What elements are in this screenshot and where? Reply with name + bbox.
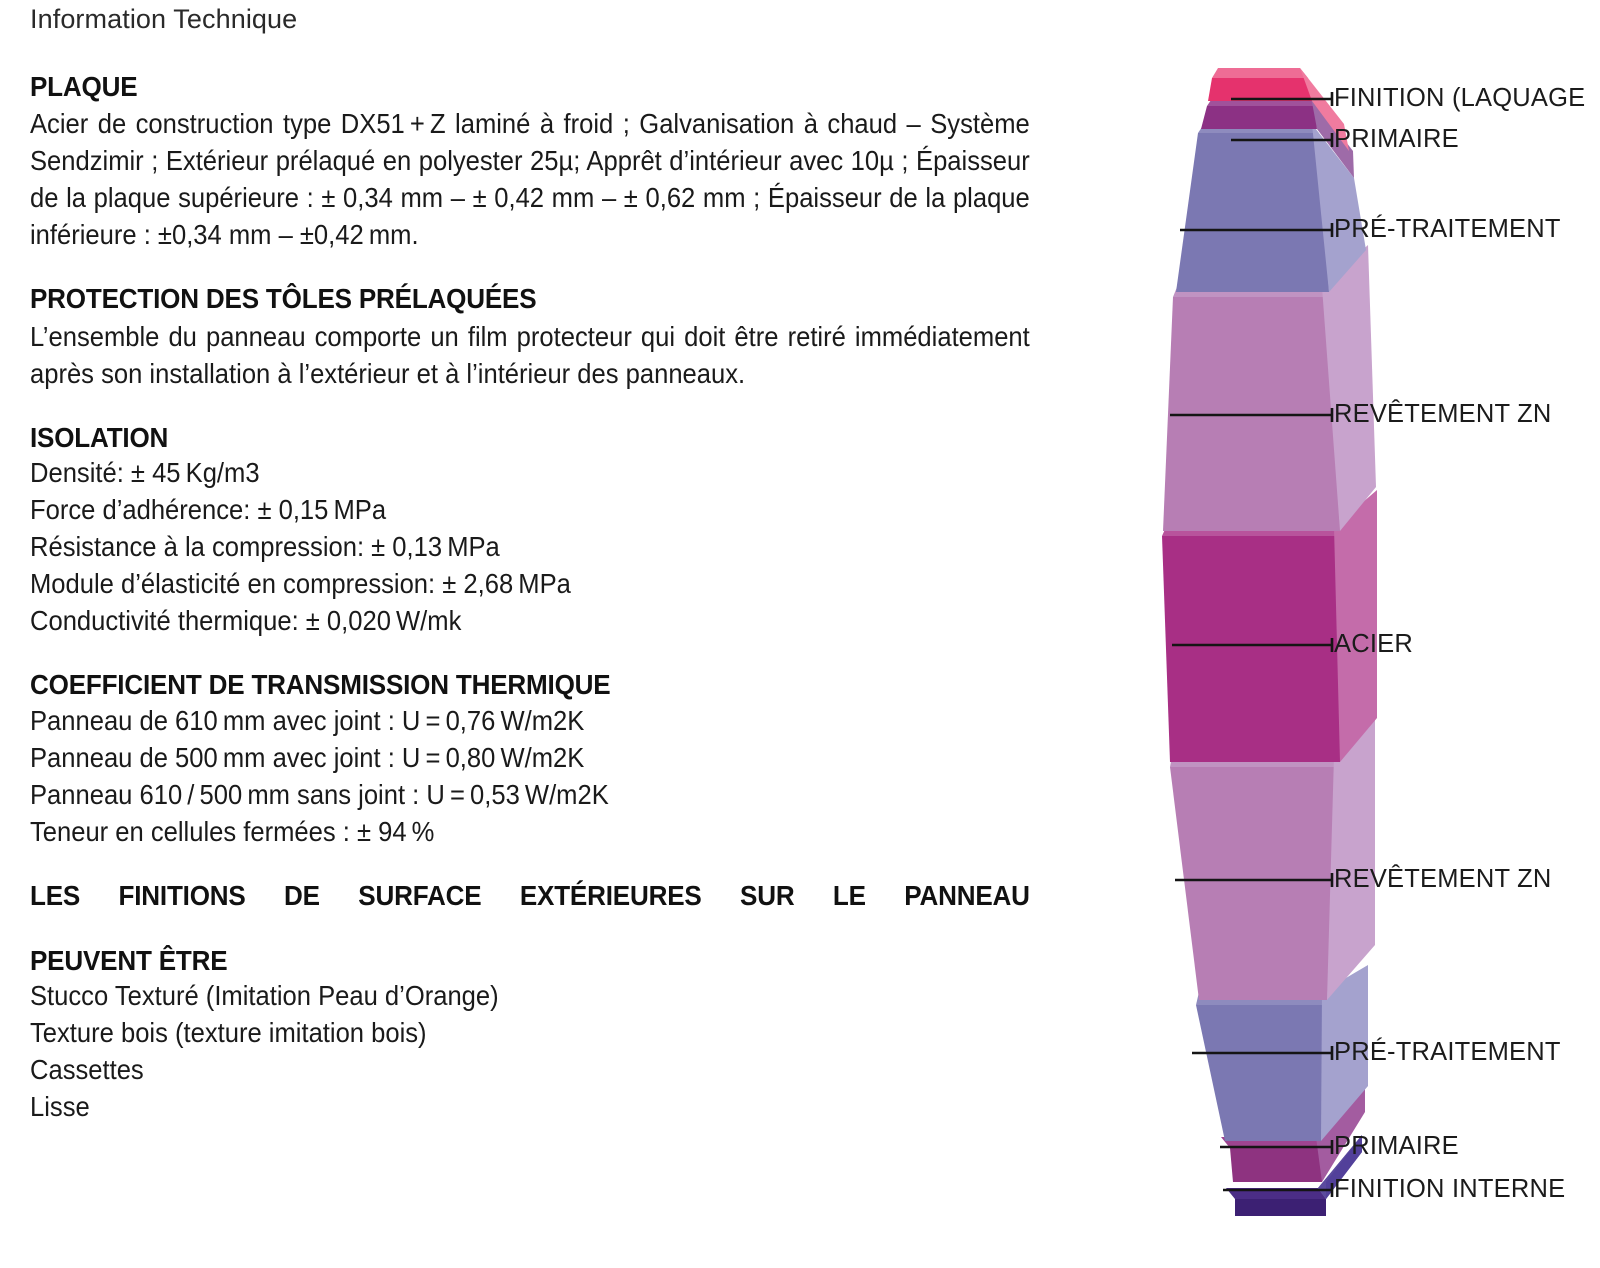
section-body-protection: L’ensemble du panneau comporte un film p… [30, 318, 1030, 392]
isolation-spec-force-adherence: Force d’adhérence: ± 0,15 MPa [30, 491, 960, 528]
coefficient-spec-610-avec-joint: Panneau de 610 mm avec joint : U = 0,76 … [30, 702, 960, 739]
section-title-isolation: ISOLATION [30, 422, 960, 454]
label-primaire-bottom: PRIMAIRE [1334, 1134, 1459, 1160]
label-revetement-zn-top: REVÊTEMENT ZN [1334, 402, 1551, 428]
label-primaire-top: PRIMAIRE [1334, 127, 1459, 153]
isolation-spec-module-elasticite: Module d’élasticité en compression: ± 2,… [30, 565, 960, 602]
primaire-bottom-front-face [1230, 1148, 1325, 1182]
pre-traitement-top-front-face [1176, 133, 1329, 292]
finition-option-stucco: Stucco Texturé (Imitation Peau d’Orange) [30, 977, 960, 1014]
pre-traitement-bottom-front-face [1196, 1005, 1328, 1141]
finition-option-cassettes: Cassettes [30, 1051, 960, 1088]
section-protection: PROTECTION DES TÔLES PRÉLAQUÉES L’ensemb… [30, 283, 1030, 391]
finition-laquage-front-face [1208, 78, 1312, 101]
panel-layer-diagram: FINITION (LAQUAGE PRIMAIRE PRÉ-TRAITEMEN… [1100, 0, 1600, 1268]
isolation-spec-conductivite-thermique: Conductivité thermique: ± 0,020 W/mk [30, 602, 960, 639]
section-title-protection: PROTECTION DES TÔLES PRÉLAQUÉES [30, 283, 960, 315]
page-title: Information Technique [30, 0, 1030, 35]
finition-laquage-top-face [1212, 68, 1308, 78]
section-body-plaque: Acier de construction type DX51 + Z lami… [30, 105, 1030, 253]
revetement-zn-bottom-front-face [1170, 767, 1340, 1000]
coefficient-spec-500-avec-joint: Panneau de 500 mm avec joint : U = 0,80 … [30, 739, 960, 776]
finition-interne-side-face [1235, 1199, 1326, 1216]
label-pre-traitement-bottom: PRÉ-TRAITEMENT [1334, 1040, 1561, 1066]
coefficient-spec-cellules-fermees: Teneur en cellules fermées : ± 94 % [30, 813, 960, 850]
technical-information-page: Information Technique PLAQUE Acier de co… [0, 0, 1600, 1268]
section-title-coefficient: COEFFICIENT DE TRANSMISSION THERMIQUE [30, 669, 960, 701]
label-pre-traitement-top: PRÉ-TRAITEMENT [1334, 217, 1561, 243]
coefficient-spec-sans-joint: Panneau 610 / 500 mm sans joint : U = 0,… [30, 776, 960, 813]
section-isolation: ISOLATION Densité: ± 45 Kg/m3 Force d’ad… [30, 422, 1030, 639]
finition-option-lisse: Lisse [30, 1088, 960, 1125]
isolation-spec-densite: Densité: ± 45 Kg/m3 [30, 454, 960, 491]
label-acier: ACIER [1334, 632, 1413, 658]
section-title-finitions-line1: LES FINITIONS DE SURFACE EXTÉRIEURES SUR… [30, 880, 1030, 945]
primaire-top-front-face [1201, 106, 1317, 129]
section-title-finitions-line2: PEUVENT ÊTRE [30, 945, 960, 977]
acier-right-face [1334, 490, 1377, 762]
label-finition-laquage: FINITION (LAQUAGE [1334, 86, 1585, 112]
section-title-plaque: PLAQUE [30, 71, 960, 103]
section-plaque: PLAQUE Acier de construction type DX51 +… [30, 71, 1030, 253]
section-coefficient-transmission: COEFFICIENT DE TRANSMISSION THERMIQUE Pa… [30, 669, 1030, 849]
acier-front-face [1162, 536, 1340, 762]
isolation-spec-resistance-compression: Résistance à la compression: ± 0,13 MPa [30, 528, 960, 565]
section-finitions-surface: LES FINITIONS DE SURFACE EXTÉRIEURES SUR… [30, 880, 1030, 1125]
label-revetement-zn-bottom: REVÊTEMENT ZN [1334, 867, 1551, 893]
label-finition-interne: FINITION INTERNE [1334, 1177, 1565, 1203]
finition-option-texture-bois: Texture bois (texture imitation bois) [30, 1014, 960, 1051]
text-column: Information Technique PLAQUE Acier de co… [30, 0, 1030, 1268]
